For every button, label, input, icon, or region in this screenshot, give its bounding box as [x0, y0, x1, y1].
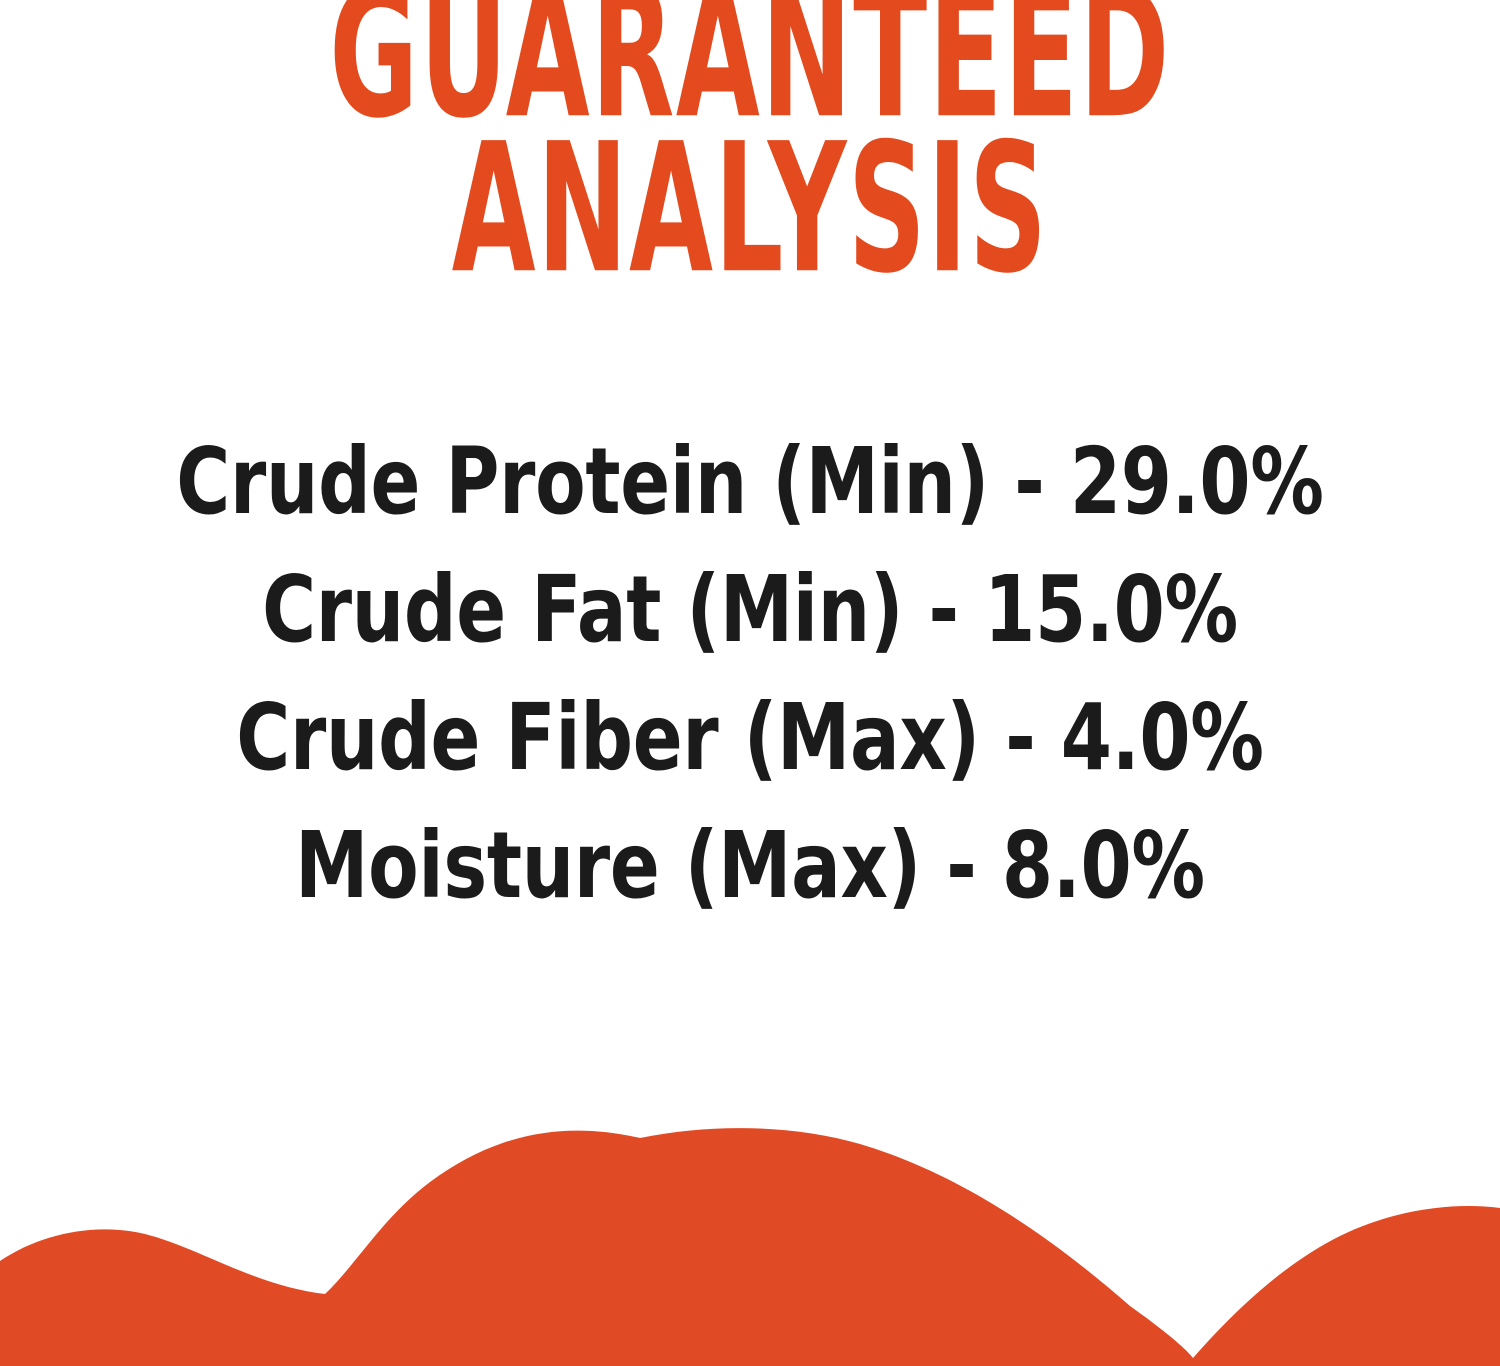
page-title-line-2: ANALYSIS — [285, 127, 1215, 291]
analysis-row-crude-protein: Crude Protein (Min) - 29.0% — [150, 436, 1350, 564]
analysis-row-crude-fiber: Crude Fiber (Max) - 4.0% — [150, 692, 1350, 820]
guaranteed-analysis-panel: GUARANTEED ANALYSIS Crude Protein (Min) … — [0, 0, 1500, 1366]
page-title: GUARANTEED ANALYSIS — [0, 0, 1500, 290]
bottom-scallop-decoration — [0, 1126, 1500, 1366]
analysis-row-moisture: Moisture (Max) - 8.0% — [150, 820, 1350, 948]
guaranteed-analysis-list: Crude Protein (Min) - 29.0% Crude Fat (M… — [0, 436, 1500, 948]
analysis-row-crude-fat: Crude Fat (Min) - 15.0% — [150, 564, 1350, 692]
scallop-shape-path — [0, 1128, 1500, 1366]
